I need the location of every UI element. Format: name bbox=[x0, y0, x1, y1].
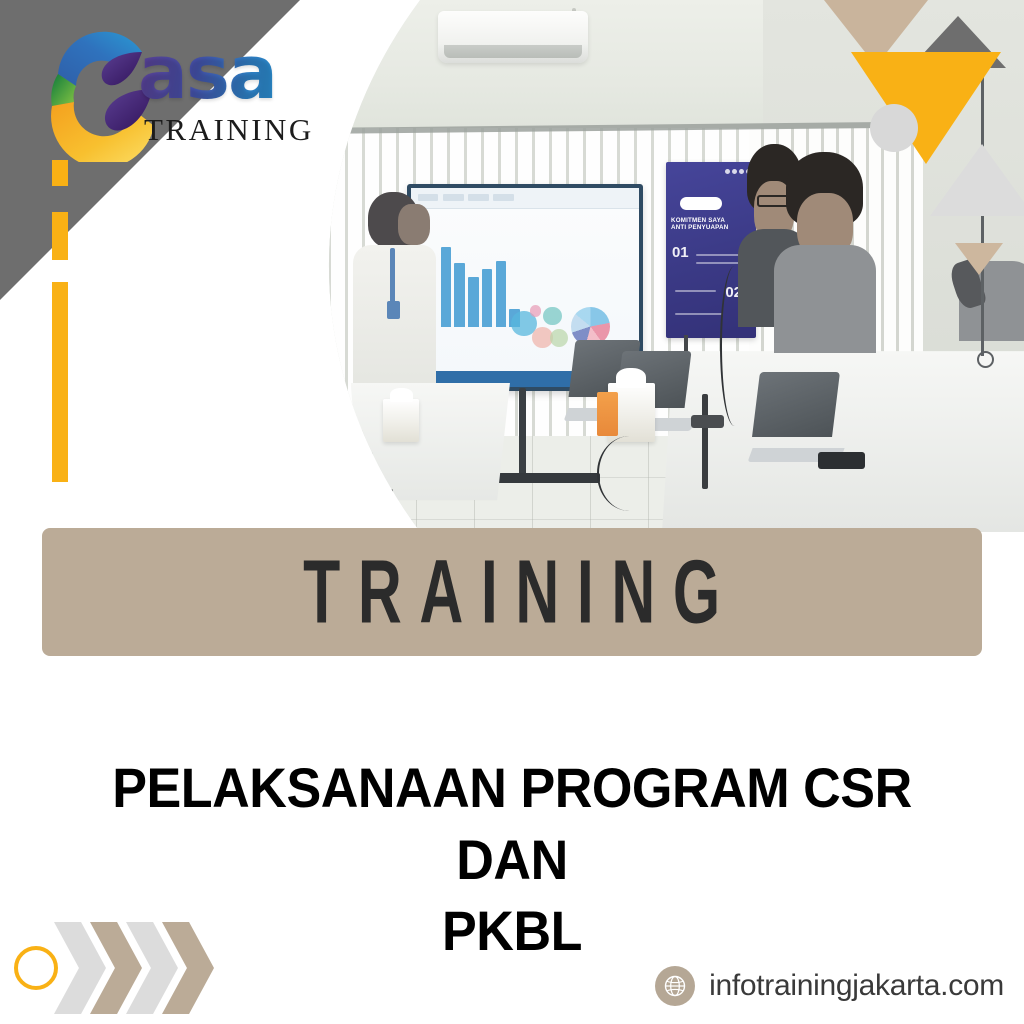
screen-base bbox=[484, 473, 600, 483]
training-banner-label: TRAINING bbox=[286, 541, 738, 644]
tissue-box-right bbox=[608, 383, 655, 442]
tissue-box-left bbox=[383, 399, 419, 442]
presenter-badge bbox=[387, 301, 400, 319]
dash-segment bbox=[52, 282, 68, 482]
table-right bbox=[662, 351, 1024, 532]
globe-icon bbox=[655, 966, 695, 1006]
website-url[interactable]: infotrainingjakarta.com bbox=[709, 969, 1004, 1003]
light-gray-triangle-up-icon bbox=[930, 144, 1024, 216]
dash-segment bbox=[52, 160, 68, 186]
table-left bbox=[351, 383, 510, 500]
cable bbox=[597, 436, 662, 510]
screen-stand bbox=[519, 388, 526, 478]
dash-segment bbox=[52, 212, 68, 260]
logo-wordmark: asa bbox=[138, 40, 276, 107]
small-tan-triangle-down-icon bbox=[955, 243, 1003, 275]
participant-front bbox=[774, 152, 875, 338]
page-title: PELAKSANAAN PROGRAM CSR DAN PKBL bbox=[36, 752, 988, 967]
rollup-number-01: 01 bbox=[672, 245, 689, 260]
air-conditioner-icon bbox=[438, 11, 588, 63]
casa-training-logo: asa TRAINING bbox=[30, 12, 330, 162]
rollup-tag bbox=[680, 197, 722, 209]
hanging-ring bbox=[977, 351, 994, 368]
participant-torso bbox=[774, 245, 875, 353]
cable-banner bbox=[720, 266, 749, 426]
gray-circle-icon bbox=[870, 104, 918, 152]
poster-canvas: KOMITMEN SAYA ANTI PENYUAPAN 01 02 bbox=[0, 0, 1024, 1024]
footer-website[interactable]: infotrainingjakarta.com bbox=[655, 966, 1004, 1006]
ac-vent bbox=[444, 45, 582, 58]
dashboard-toolbar bbox=[411, 188, 639, 210]
presenter-face bbox=[398, 204, 430, 245]
logo-subtitle: TRAINING bbox=[144, 112, 314, 148]
phone-small bbox=[691, 415, 724, 428]
page-title-line2: PKBL bbox=[442, 899, 582, 962]
presenter-lanyard bbox=[390, 248, 395, 304]
phone-on-table bbox=[818, 452, 865, 469]
page-title-line1: PELAKSANAAN PROGRAM CSR DAN bbox=[112, 756, 911, 891]
laptop-right bbox=[756, 372, 836, 462]
training-banner: TRAINING bbox=[42, 528, 982, 656]
